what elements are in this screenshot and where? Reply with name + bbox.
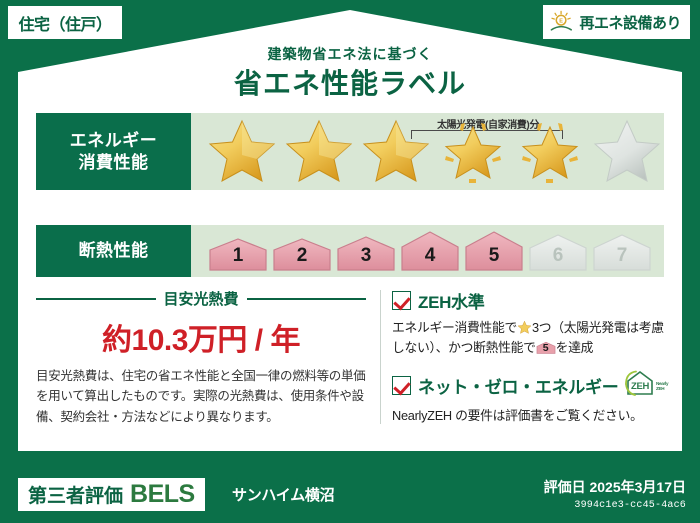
insulation-level-7: 7 [591,234,653,272]
star-icon-3 [359,115,433,189]
insulation-level-3: 3 [335,236,397,272]
insulation-level-5: 5 [463,231,525,272]
inline-house-badge-number: 5 [536,340,556,356]
rule-right [247,298,367,300]
zeh-standard-description: エネルギー消費性能で 3つ（太陽光発電は考慮しない）、かつ断熱性能で 5 を達成 [392,318,672,358]
inline-house-badge-icon: 5 [536,340,556,356]
column-divider [380,290,381,424]
star-rating [191,115,664,189]
renewable-equipment-badge: E 再エネ設備あり [543,5,690,39]
net-zero-block: ネット・ゼロ・エネルギー ZEH Nearly ZEH NearlyZEH の要… [392,370,672,426]
footer-meta: 評価日 2025年3月17日 3994c1e3-cc45-4ac6 [544,477,686,511]
insulation-rating-body: 1 2 3 4 [191,225,664,277]
energy-rating-body: 太陽光発電(自家消費)分 [191,113,664,190]
utility-cost-note: 目安光熱費は、住宅の省エネ性能と全国一律の燃料等の単価を用いて算出したものです。… [36,366,372,427]
utility-cost-value: 約10.3万円 / 年 [36,315,366,359]
utility-cost-block: 目安光熱費 約10.3万円 / 年 [36,288,366,359]
insulation-level-1: 1 [207,238,269,272]
star-icon-4-solar [436,115,510,189]
page-title: 省エネ性能ラベル [0,62,700,102]
star-icon-5-solar [513,115,587,189]
star-icon-6-empty [590,115,664,189]
zeh-standard-title: ZEH水準 [418,288,485,313]
zeh-desc-part-a: エネルギー消費性能で [392,320,517,335]
insulation-level-6: 6 [527,234,589,272]
insulation-level-7-number: 7 [591,245,653,267]
zeh-desc-part-c: を達成 [556,340,594,355]
insulation-level-2: 2 [271,238,333,272]
insulation-level-3-number: 3 [335,245,397,267]
evaluation-uid: 3994c1e3-cc45-4ac6 [544,500,686,511]
energy-label-line1: エネルギー [70,130,158,152]
dwelling-type-tag: 住宅（住戸） [8,6,122,39]
insulation-level-2-number: 2 [271,245,333,267]
check-icon-zeh-standard [392,291,411,310]
bels-badge-ja: 第三者評価 [28,481,123,508]
insulation-level-5-number: 5 [463,245,525,267]
net-zero-description: NearlyZEH の要件は評価書をご覧ください。 [392,406,672,426]
svg-text:E: E [560,19,564,25]
bels-badge-en: BELS [130,480,195,509]
svg-text:ZEH: ZEH [656,386,665,391]
net-zero-title: ネット・ゼロ・エネルギー [418,373,618,398]
check-icon-net-zero [392,376,411,395]
insulation-level-6-number: 6 [527,245,589,267]
insulation-level-scale: 1 2 3 4 [191,231,653,272]
solar-sun-icon: E [549,10,575,34]
insulation-label-text: 断熱性能 [79,240,149,262]
insulation-level-4-number: 4 [399,245,461,267]
energy-label-line2: 消費性能 [79,152,149,174]
star-icon-2 [282,115,356,189]
svg-text:ZEH: ZEH [631,381,650,392]
label-subtitle: 建築物省エネ法に基づく [0,44,700,64]
energy-performance-row-label: エネルギー 消費性能 [36,113,191,190]
energy-performance-row: エネルギー 消費性能 太陽光発電(自家消費)分 [36,113,664,190]
dwelling-type-label: 住宅（住戸） [18,11,111,35]
insulation-row-label: 断熱性能 [36,225,191,277]
net-zero-title-row: ネット・ゼロ・エネルギー ZEH Nearly ZEH [392,370,672,401]
building-name: サンハイム横沼 [232,484,334,505]
utility-cost-heading-text: 目安光熱費 [164,288,239,309]
renewable-equipment-label: 再エネ設備あり [579,12,681,33]
zeh-standard-title-row: ZEH水準 [392,288,672,313]
zeh-nearly-logo-icon: ZEH Nearly ZEH [625,370,671,401]
zeh-column: ZEH水準 エネルギー消費性能で 3つ（太陽光発電は考慮しない）、かつ断熱性能で… [392,288,672,425]
insulation-performance-row: 断熱性能 1 [36,225,664,277]
star-icon-1 [205,115,279,189]
evaluation-date: 評価日 2025年3月17日 [544,477,686,497]
rule-left [36,298,156,300]
utility-cost-heading: 目安光熱費 [36,288,366,309]
inline-star-icon [517,320,532,335]
bels-badge: 第三者評価 BELS [18,478,205,511]
energy-performance-label: 住宅（住戸） E 再エネ設備あり 建築物省エネ法に基づく 省エネ性能ラベル [0,0,700,523]
insulation-level-1-number: 1 [207,245,269,267]
insulation-level-4: 4 [399,231,461,272]
